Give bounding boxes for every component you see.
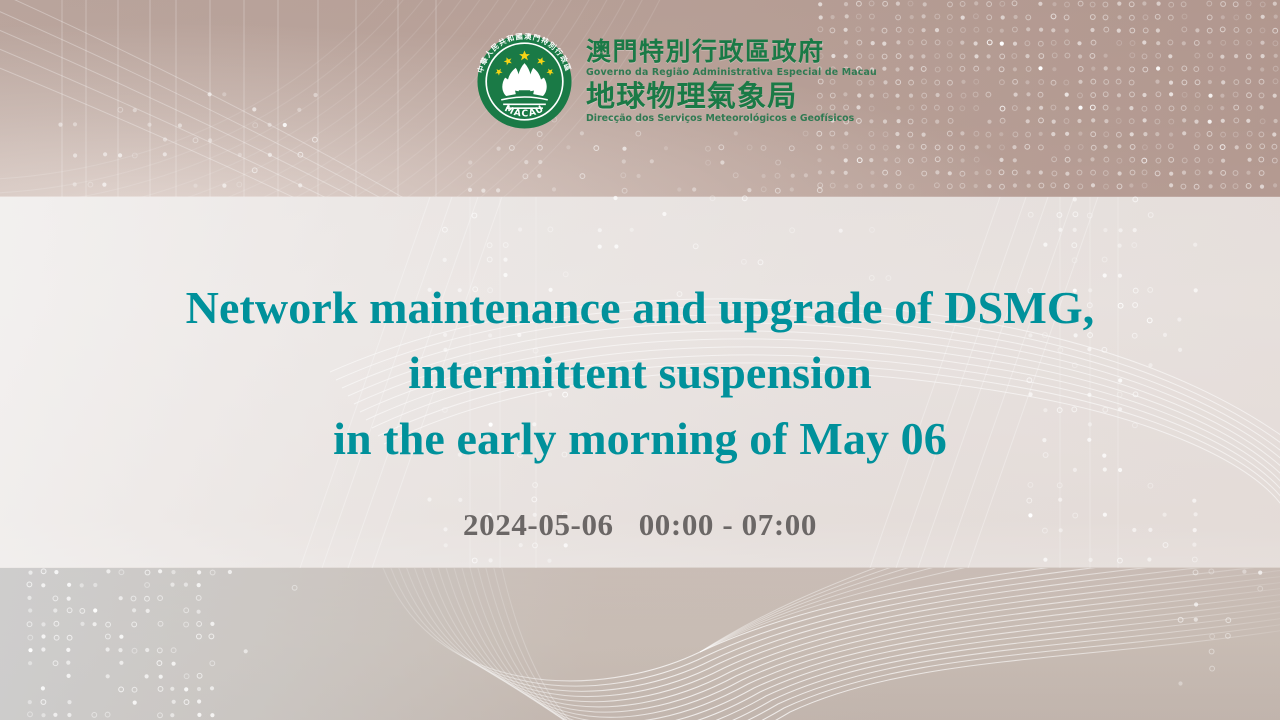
notice-content: Network maintenance and upgrade of DSMG,…	[0, 197, 1280, 568]
government-line-cn: 澳門特別行政區政府	[586, 38, 877, 66]
dsmg-logo: 中華人民共和國澳門特別行政區	[476, 33, 877, 130]
government-line-pt: Governo da Região Administrativa Especia…	[586, 67, 877, 79]
title-line-2: intermittent suspension	[35, 340, 1245, 405]
bottom-band-wash	[0, 568, 1280, 720]
page-title: Network maintenance and upgrade of DSMG,…	[35, 275, 1245, 471]
logo-text-block: 澳門特別行政區政府 Governo da Região Administrati…	[586, 38, 877, 125]
notice-banner: 中華人民共和國澳門特別行政區	[0, 0, 1280, 720]
title-line-3: in the early morning of May 06	[35, 406, 1245, 471]
title-line-1: Network maintenance and upgrade of DSMG,	[35, 275, 1245, 340]
notice-datetime: 2024-05-06 00:00 - 07:00	[463, 507, 817, 543]
department-line-cn: 地球物理氣象局	[586, 80, 877, 112]
department-line-pt: Direcção dos Serviços Meteorológicos e G…	[586, 113, 877, 125]
macau-sar-emblem-icon: 中華人民共和國澳門特別行政區	[476, 33, 573, 130]
